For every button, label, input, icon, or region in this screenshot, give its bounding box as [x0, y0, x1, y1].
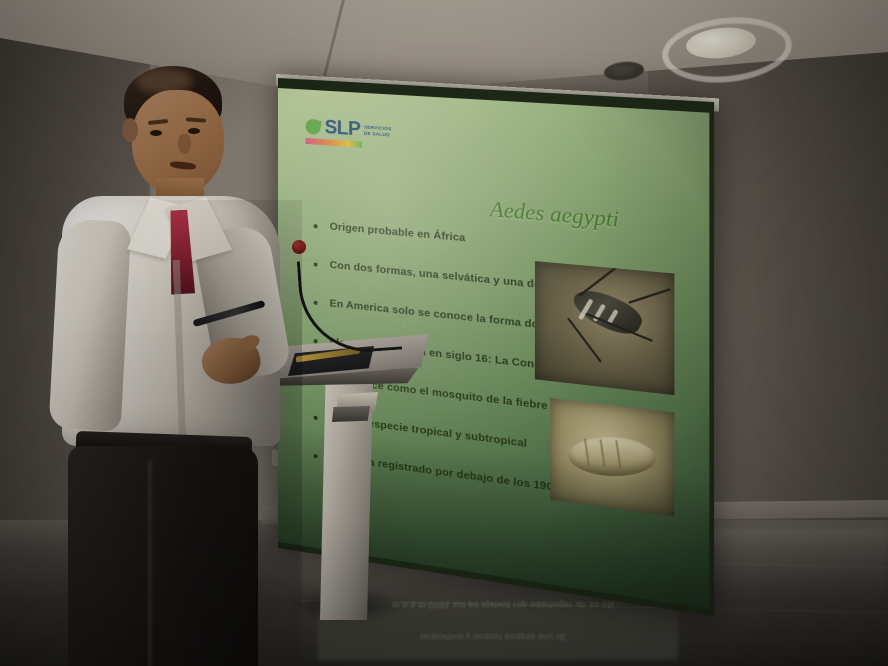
trousers	[68, 446, 258, 666]
slp-logo: SLP SERVICIOS DE SALUD	[306, 116, 399, 157]
logo-wordmark: SLP	[325, 117, 361, 142]
leaf-icon	[304, 117, 322, 136]
mosquito-leg	[628, 288, 671, 304]
presenter	[52, 60, 292, 666]
eye	[188, 128, 200, 134]
gooseneck-microphone	[300, 250, 396, 356]
eye	[150, 130, 162, 136]
podium-device-base	[332, 406, 370, 422]
nose	[178, 134, 191, 154]
ear	[122, 118, 138, 142]
left-arm-sleeve	[49, 218, 132, 431]
larva-body	[566, 437, 658, 477]
presentation-room-photo: m.n.s.m 0091 sol ed ojabed rop odartsige…	[0, 0, 888, 666]
adult-mosquito-photo	[535, 261, 674, 395]
microphone-head-icon	[292, 240, 306, 254]
trouser-crease	[148, 460, 152, 666]
floor-reflection-text-line2: laciportbus y laciport eicepse anu sE	[420, 632, 680, 642]
mosquito-leg	[567, 318, 602, 363]
logo-subtitle-line2: DE SALUD	[364, 131, 390, 139]
mosquito-larva-photo	[550, 398, 674, 517]
